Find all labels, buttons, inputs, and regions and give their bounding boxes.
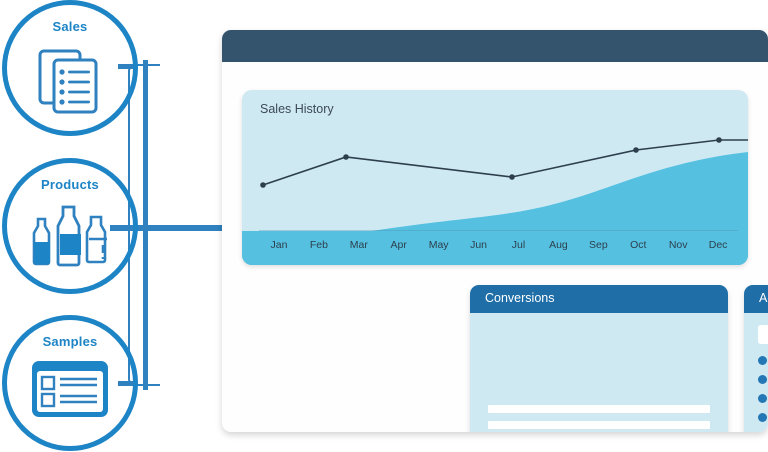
month-label: May [419, 239, 459, 257]
conversions-row [488, 421, 710, 429]
dashboard-window: Sales History [222, 30, 768, 432]
accounts-list-item[interactable] [758, 412, 768, 422]
month-label: Feb [299, 239, 339, 257]
month-label: Jan [259, 239, 299, 257]
month-label: Aug [538, 239, 578, 257]
month-label: Sep [578, 239, 618, 257]
accounts-select[interactable] [758, 325, 768, 344]
accounts-list-item[interactable] [758, 355, 768, 365]
month-label: Mar [339, 239, 379, 257]
month-label: Dec [698, 239, 738, 257]
conversions-title: Conversions [485, 291, 554, 305]
bullet-icon [758, 394, 767, 403]
accounts-panel: Accounts [744, 285, 768, 432]
node-sales[interactable]: Sales [2, 0, 138, 136]
node-sales-label: Sales [7, 19, 133, 34]
infographic-canvas: Sales Products [0, 0, 768, 452]
accounts-list-item[interactable] [758, 393, 768, 403]
node-samples[interactable]: Samples [2, 315, 138, 451]
node-products[interactable]: Products [2, 158, 138, 294]
bottles-icon [7, 201, 133, 273]
month-label: Oct [618, 239, 658, 257]
node-products-label: Products [7, 177, 133, 192]
accounts-select-value[interactable] [758, 325, 768, 344]
conversions-row [488, 405, 710, 413]
sales-history-card: Sales History [242, 90, 748, 265]
month-label: Jul [499, 239, 539, 257]
bullet-icon [758, 413, 767, 422]
month-label: Apr [379, 239, 419, 257]
sales-month-labels: Jan Feb Mar Apr May Jun Jul Aug Sep Oct … [259, 239, 738, 257]
bullet-icon [758, 375, 767, 384]
bullet-icon [758, 356, 767, 365]
accounts-title: Accounts [759, 291, 768, 305]
month-label: Nov [658, 239, 698, 257]
form-card-icon [7, 358, 133, 420]
conversions-panel: Conversions [470, 285, 728, 432]
accounts-list-item[interactable] [758, 374, 768, 384]
conversions-bar-group [488, 327, 710, 395]
node-samples-label: Samples [7, 334, 133, 349]
documents-icon [7, 43, 133, 119]
window-titlebar [222, 30, 768, 62]
month-label: Jun [459, 239, 499, 257]
